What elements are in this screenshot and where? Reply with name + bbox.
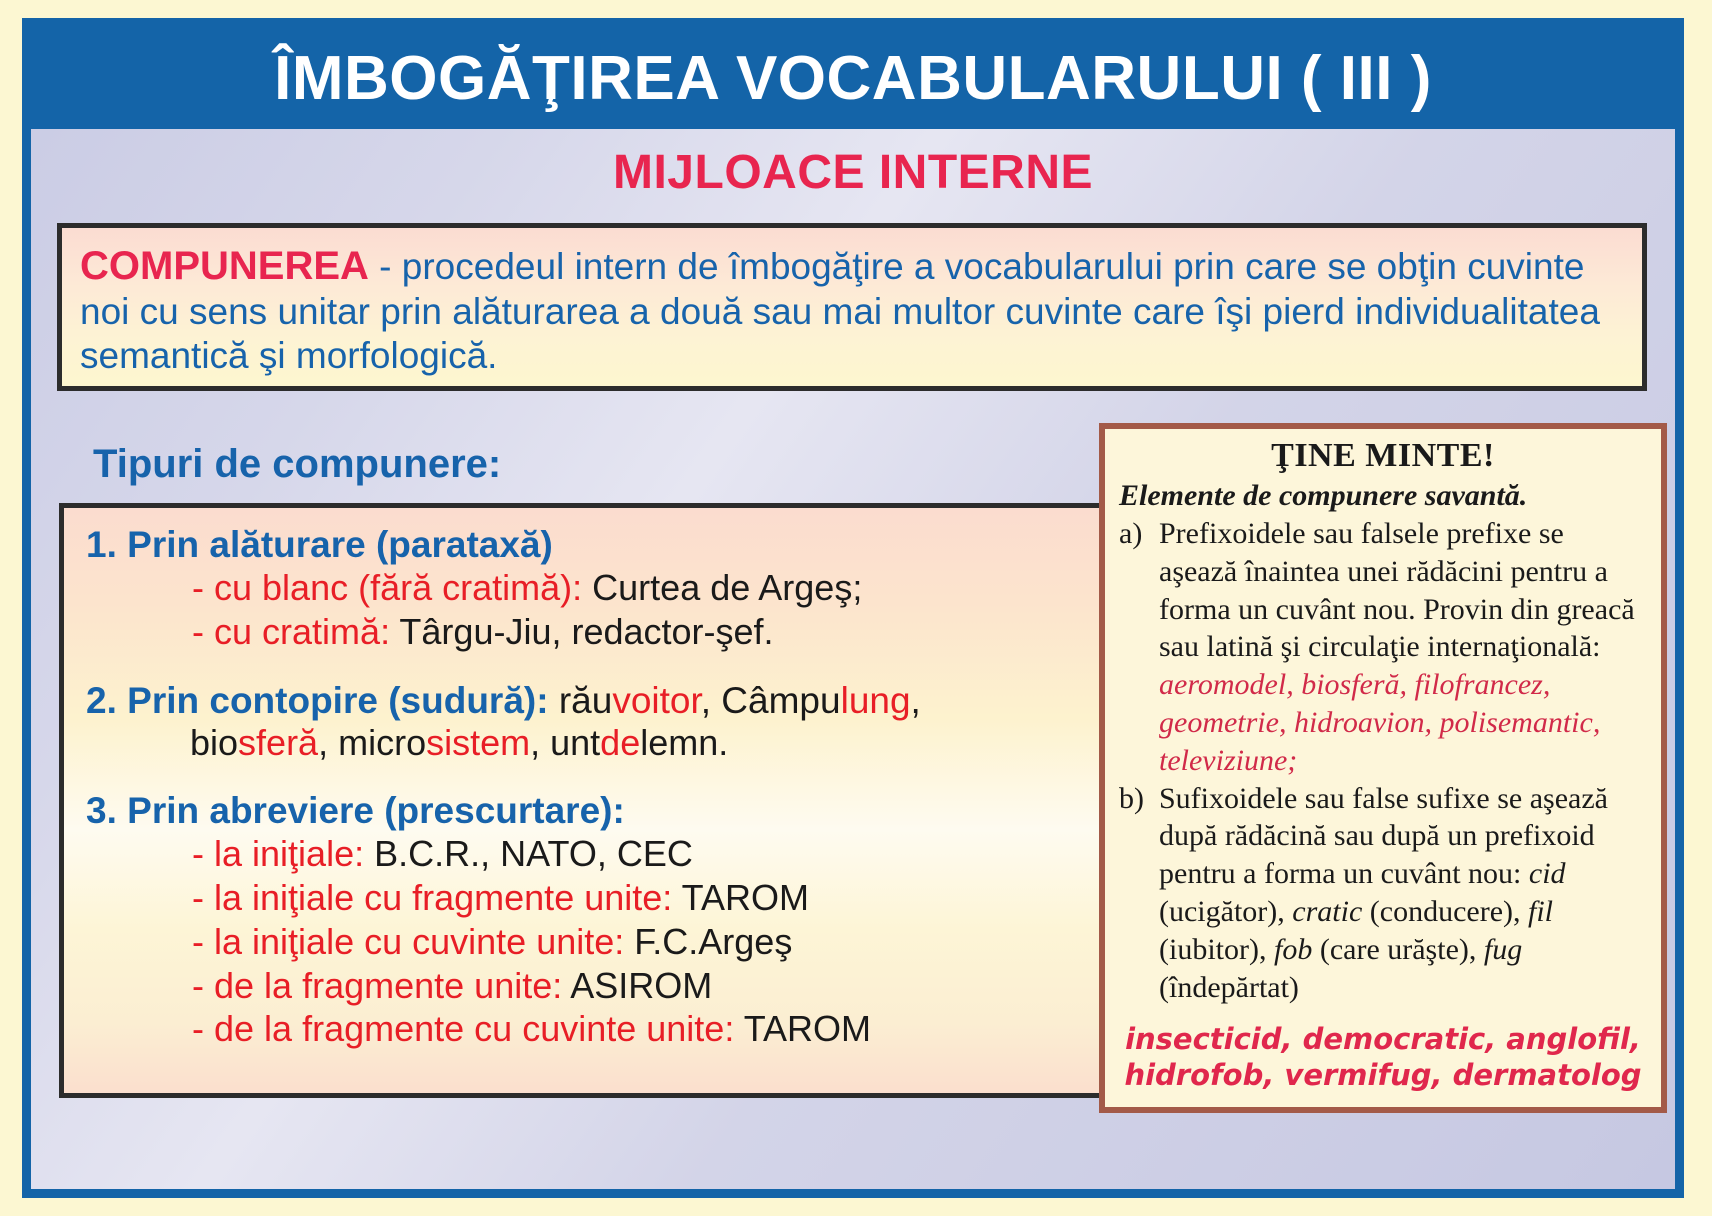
- section-heading: Tipuri de compunere:: [93, 442, 501, 487]
- type-1-subitem-1: - cu blanc (fără cratimă): Curtea de Arg…: [192, 566, 1100, 610]
- type-1-subitem-1-label: cu blanc (fără cratimă): [214, 567, 572, 608]
- type-2-examples-line1: răuvoitor, Câmpulung,: [549, 680, 921, 721]
- type-2-label: Prin contopire (sudură):: [127, 680, 548, 721]
- type-1-subitem-2-sep: :: [380, 611, 399, 652]
- remember-examples-line-1: insecticid, democratic, anglofil,: [1119, 1022, 1647, 1057]
- gloss-4-term: fob: [1274, 933, 1312, 966]
- remember-paragraph-a-examples: aeromodel, biosferă, filofrancez, geomet…: [1159, 668, 1600, 777]
- poster-frame: ÎMBOGĂŢIREA VOCABULARULUI ( III ) MIJLOA…: [22, 18, 1684, 1198]
- types-box: 1. Prin alăturare (parataxă) - cu blanc …: [59, 503, 1115, 1098]
- gloss-2-term: cratic: [1292, 895, 1362, 928]
- remember-paragraph-a-body: Prefixoidele sau falsele prefixe se aşea…: [1159, 517, 1635, 663]
- type-2-examples-line2: biosferă, microsistem, untdelemn.: [190, 722, 1100, 764]
- type-3-subitem-2-dash: -: [192, 877, 204, 918]
- type-1-subitem-2-label: cu cratimă: [214, 611, 380, 652]
- type-3-subitem-3-label: la iniţiale cu cuvinte unite: [214, 921, 614, 962]
- type-3-subitem-4-label: de la fragmente unite: [214, 965, 552, 1006]
- type-1-number: 1.: [86, 524, 117, 565]
- page-subtitle: MIJLOACE INTERNE: [31, 145, 1675, 200]
- remember-panel-title: ŢINE MINTE!: [1119, 437, 1647, 475]
- type-3-subitem-1-examples: B.C.R., NATO, CEC: [374, 833, 693, 874]
- type-3-subitem-4-sep: :: [552, 965, 570, 1006]
- type-3-title: 3. Prin abreviere (prescurtare):: [86, 790, 1100, 832]
- remember-paragraph-a-text: Prefixoidele sau falsele prefixe se aşea…: [1159, 515, 1647, 780]
- type-3-subitem-1-label: la iniţiale: [214, 833, 354, 874]
- type-3-subitem-2-label: la iniţiale cu fragmente unite: [214, 877, 662, 918]
- type-2-number: 2.: [86, 680, 117, 721]
- type-3-subitem-4-dash: -: [192, 965, 204, 1006]
- gloss-3-def: (iubitor),: [1159, 933, 1274, 966]
- definition-box: COMPUNEREA - procedeul intern de îmbogăţ…: [57, 223, 1647, 391]
- type-1-subitem-2: - cu cratimă: Târgu-Jiu, redactor-şef.: [192, 610, 1100, 654]
- remember-paragraph-b: b) Sufixoidele sau false sufixe se aşeaz…: [1119, 780, 1647, 1007]
- type-3-subitem-2: - la iniţiale cu fragmente unite: TAROM: [192, 876, 1100, 920]
- remember-paragraph-a: a) Prefixoidele sau falsele prefixe se a…: [1119, 515, 1647, 780]
- type-3-subitem-2-sep: :: [662, 877, 681, 918]
- spacer-1: [86, 654, 1100, 680]
- type-1-subitem-2-dash: -: [192, 611, 204, 652]
- remember-examples: insecticid, democratic, anglofil, hidrof…: [1119, 1022, 1647, 1093]
- remember-examples-line-2: hidrofob, vermifug, dermatolog: [1119, 1058, 1647, 1093]
- type-1-title: 1. Prin alăturare (parataxă): [86, 524, 1100, 566]
- type-3-subitem-1-dash: -: [192, 833, 204, 874]
- type-3-subitem-5-sep: :: [724, 1008, 743, 1049]
- type-3-subitem-1-sep: :: [354, 833, 374, 874]
- remember-panel-subtitle: Elemente de compunere savantă.: [1119, 479, 1647, 513]
- type-3-subitem-5-examples: TAROM: [744, 1008, 871, 1049]
- remember-paragraph-a-marker: a): [1119, 515, 1159, 553]
- gloss-4-def: (care urăşte),: [1312, 933, 1484, 966]
- definition-text: COMPUNEREA - procedeul intern de îmbogăţ…: [80, 242, 1624, 379]
- gloss-5-term: fug: [1484, 933, 1522, 966]
- type-3-subitem-3-examples: F.C.Argeş: [634, 921, 792, 962]
- type-1-subitem-1-examples: Curtea de Argeş;: [592, 567, 862, 608]
- definition-keyword: COMPUNEREA: [80, 244, 369, 288]
- type-3-subitem-3: - la iniţiale cu cuvinte unite: F.C.Arge…: [192, 920, 1100, 964]
- remember-paragraph-b-marker: b): [1119, 780, 1159, 818]
- gloss-2-def: (conducere),: [1362, 895, 1528, 928]
- type-3-subitem-5-dash: -: [192, 1008, 204, 1049]
- remember-paragraph-b-text: Sufixoidele sau false sufixe se aşează d…: [1159, 780, 1647, 1007]
- type-3-label: Prin abreviere (prescurtare):: [127, 790, 625, 831]
- spacer-2: [86, 764, 1100, 790]
- gloss-5-def: (îndepărtat): [1159, 971, 1299, 1004]
- gloss-1-def: (ucigător),: [1159, 895, 1292, 928]
- type-1-label: Prin alăturare (parataxă): [127, 524, 553, 565]
- type-3-number: 3.: [86, 790, 117, 831]
- type-3-subitem-3-dash: -: [192, 921, 204, 962]
- type-3-subitem-5: - de la fragmente cu cuvinte unite: TARO…: [192, 1007, 1100, 1051]
- type-1-subitem-2-examples: Târgu-Jiu, redactor-şef.: [399, 611, 773, 652]
- type-1-subitem-1-dash: -: [192, 567, 204, 608]
- type-3-subitem-3-sep: :: [614, 921, 634, 962]
- type-3-subitem-5-label: de la fragmente cu cuvinte unite: [214, 1008, 724, 1049]
- type-3-subitem-4-examples: ASIROM: [570, 965, 712, 1006]
- type-3-subitem-1: - la iniţiale: B.C.R., NATO, CEC: [192, 832, 1100, 876]
- title-bar: ÎMBOGĂŢIREA VOCABULARULUI ( III ): [31, 27, 1675, 129]
- page-title: ÎMBOGĂŢIREA VOCABULARULUI ( III ): [274, 43, 1432, 114]
- gloss-3-term: fil: [1528, 895, 1553, 928]
- type-3-subitem-4: - de la fragmente unite: ASIROM: [192, 964, 1100, 1008]
- gloss-1-term: cid: [1529, 857, 1566, 890]
- remember-panel: ŢINE MINTE! Elemente de compunere savant…: [1099, 423, 1667, 1113]
- type-2-title: 2. Prin contopire (sudură): răuvoitor, C…: [86, 680, 1100, 722]
- poster-root: ÎMBOGĂŢIREA VOCABULARULUI ( III ) MIJLOA…: [0, 0, 1712, 1216]
- type-3-subitem-2-examples: TAROM: [682, 877, 809, 918]
- type-1-subitem-1-sep: :: [572, 567, 592, 608]
